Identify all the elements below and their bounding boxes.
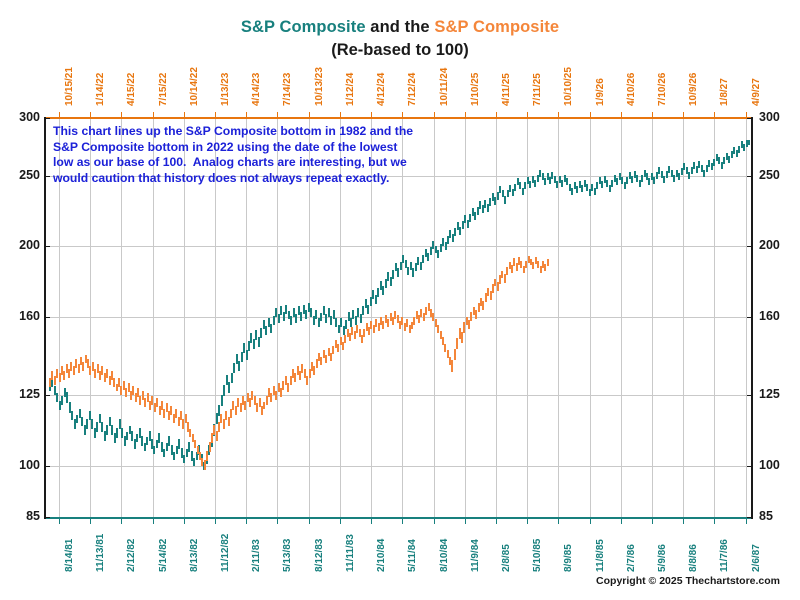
price-bar [290, 316, 292, 325]
price-bar [501, 271, 503, 278]
price-bar [432, 241, 434, 249]
price-bar [237, 398, 239, 407]
x-tick-top [246, 112, 247, 117]
x-tick-top [558, 112, 559, 117]
price-bar [132, 386, 134, 395]
price-bar [406, 319, 408, 327]
price-bar [556, 181, 558, 188]
price-bar [454, 349, 456, 360]
price-bar [360, 314, 362, 323]
price-bar [221, 395, 223, 406]
x-tick-top [590, 112, 591, 117]
price-bar [611, 180, 613, 187]
x-tick-bottom [90, 519, 91, 524]
price-bar [400, 262, 402, 270]
x-tick-bottom [558, 519, 559, 524]
x-tick-bottom [402, 519, 403, 524]
x-axis-label-top: 4/9/27 [751, 78, 762, 106]
price-bar [459, 227, 461, 235]
x-tick-bottom [434, 519, 435, 524]
price-bar [494, 197, 496, 205]
price-bar [265, 326, 267, 335]
annotation-line-3: low as our base of 100. Analog charts ar… [53, 155, 473, 171]
price-bar [489, 198, 491, 206]
price-bar [170, 406, 172, 415]
price-bar [342, 342, 344, 350]
price-bar [401, 317, 403, 325]
x-axis-label-bottom: 2/12/82 [126, 539, 137, 572]
x-axis-label-top: 7/15/22 [158, 73, 169, 106]
x-axis-label-bottom: 8/9/85 [563, 544, 574, 572]
x-tick-top [59, 112, 60, 117]
price-bar [231, 373, 233, 383]
x-tick-top [496, 112, 497, 117]
price-bar [474, 212, 476, 220]
x-tick-top [371, 112, 372, 117]
x-tick-top [340, 112, 341, 117]
price-bar [125, 388, 127, 397]
x-axis-label-bottom: 11/8/85 [595, 539, 606, 572]
x-tick-top [652, 112, 653, 117]
price-bar [120, 386, 122, 395]
price-bar [352, 310, 354, 319]
price-bar [71, 411, 73, 420]
x-axis-label-top: 4/10/26 [626, 73, 637, 106]
price-bar [728, 156, 730, 163]
x-tick-top [434, 112, 435, 117]
price-bar [636, 175, 638, 182]
price-bar [648, 178, 650, 185]
x-tick-bottom [746, 519, 747, 524]
y-tick-left [45, 118, 50, 119]
price-bar [101, 366, 103, 375]
price-bar [738, 146, 740, 153]
price-bar [243, 343, 245, 353]
x-axis-label-top: 4/11/25 [501, 73, 512, 106]
y-tick-left [45, 176, 50, 177]
y-axis-label-right: 300 [759, 110, 799, 124]
price-bar [718, 157, 720, 164]
title-line-1: S&P Composite and the S&P Composite [0, 18, 800, 37]
x-tick-bottom [621, 519, 622, 524]
x-axis-label-top: 4/15/22 [126, 73, 137, 106]
plot-border-right [751, 117, 753, 519]
price-bar [141, 436, 143, 446]
x-axis-label-top: 7/11/25 [532, 73, 543, 106]
price-bar [301, 364, 303, 373]
price-bar [320, 313, 322, 321]
price-bar [275, 391, 277, 400]
x-tick-top [714, 112, 715, 117]
price-bar [173, 452, 175, 460]
price-bar [330, 353, 332, 361]
price-bar [370, 321, 372, 329]
price-bar [534, 180, 536, 187]
x-axis-label-top: 4/12/24 [376, 73, 387, 106]
x-axis-label-bottom: 2/7/86 [626, 544, 637, 572]
price-bar [394, 311, 396, 319]
y-tick-right [747, 395, 752, 396]
price-bar [81, 417, 83, 426]
gridline-vertical [590, 118, 591, 517]
price-bar [266, 396, 268, 405]
price-bar [244, 401, 246, 410]
x-tick-top [277, 112, 278, 117]
price-bar [320, 357, 322, 365]
price-bar [310, 308, 312, 317]
title-series-teal: S&P Composite [241, 18, 366, 36]
price-bar [357, 308, 359, 317]
price-bar [89, 366, 91, 375]
price-bar [417, 257, 419, 265]
copyright-notice: Copyright © 2025 Thechartstore.com [596, 575, 780, 587]
price-bar [663, 176, 665, 183]
x-axis-label-bottom: 2/11/83 [251, 539, 262, 572]
price-bar [420, 309, 422, 317]
price-bar [539, 170, 541, 177]
x-axis-label-bottom: 8/8/86 [688, 544, 699, 572]
price-bar [106, 369, 108, 378]
x-axis-label-top: 10/15/21 [64, 67, 75, 106]
price-bar [586, 184, 588, 191]
price-bar [306, 376, 308, 385]
title-conjunction: and the [366, 18, 435, 36]
price-bar [188, 442, 190, 452]
price-bar [313, 366, 315, 375]
y-axis-label-left: 85 [2, 509, 40, 523]
gridline-vertical [714, 118, 715, 517]
price-bar [372, 290, 374, 299]
price-bar [256, 403, 258, 412]
x-tick-top [215, 112, 216, 117]
price-bar [213, 425, 215, 435]
y-axis-label-left: 160 [2, 309, 40, 323]
price-bar [375, 319, 377, 327]
price-bar [499, 186, 501, 193]
price-bar [106, 425, 108, 435]
price-bar [581, 185, 583, 192]
x-tick-top [465, 112, 466, 117]
price-bar [402, 255, 404, 263]
x-axis-label-top: 1/9/26 [595, 78, 606, 106]
price-bar [258, 337, 260, 347]
y-axis-label-left: 125 [2, 387, 40, 401]
x-axis-label-top: 7/10/26 [657, 73, 668, 106]
price-bar [544, 264, 546, 271]
price-bar [668, 166, 670, 173]
price-bar [616, 178, 618, 185]
price-bar [136, 434, 138, 442]
price-bar [425, 307, 427, 315]
x-axis-label-top: 10/13/23 [314, 67, 325, 106]
price-bar [163, 409, 165, 418]
price-bar [111, 425, 113, 435]
price-bar [743, 144, 745, 151]
price-bar [78, 364, 80, 373]
price-bar [344, 335, 346, 343]
x-tick-bottom [590, 519, 591, 524]
price-bar [748, 140, 750, 145]
price-bar [713, 159, 715, 166]
x-axis-label-bottom: 5/9/86 [657, 544, 668, 572]
price-bar [189, 429, 191, 437]
x-tick-top [184, 112, 185, 117]
price-bar [362, 306, 364, 315]
price-bar [66, 392, 68, 403]
price-bar [287, 383, 289, 392]
price-bar [464, 215, 466, 223]
x-tick-bottom [340, 519, 341, 524]
x-axis-label-top: 1/13/23 [220, 73, 231, 106]
price-bar [235, 406, 237, 415]
y-axis-label-right: 200 [759, 238, 799, 252]
price-bar [591, 184, 593, 191]
y-tick-right [747, 118, 752, 119]
price-bar [678, 173, 680, 180]
price-bar [456, 338, 458, 349]
plot-border-left [44, 117, 46, 519]
price-bar [175, 409, 177, 418]
price-bar [76, 415, 78, 423]
x-axis-label-top: 7/14/23 [282, 73, 293, 106]
y-axis-label-right: 100 [759, 458, 799, 472]
x-tick-bottom [215, 519, 216, 524]
price-bar [144, 398, 146, 407]
price-bar [469, 214, 471, 222]
y-tick-left [45, 246, 50, 247]
x-tick-bottom [465, 519, 466, 524]
price-bar [451, 360, 453, 372]
x-tick-bottom [121, 519, 122, 524]
x-axis-label-bottom: 5/11/84 [407, 539, 418, 572]
price-bar [432, 313, 434, 321]
price-bar [397, 268, 399, 277]
y-tick-left [45, 395, 50, 396]
x-tick-bottom [309, 519, 310, 524]
price-bar [337, 344, 339, 352]
price-bar [241, 352, 243, 362]
x-tick-bottom [153, 519, 154, 524]
price-bar [146, 437, 148, 445]
y-tick-left [45, 517, 50, 518]
price-bar [601, 181, 603, 188]
price-bar [497, 192, 499, 200]
price-bar [56, 369, 58, 378]
price-bar [733, 147, 735, 154]
price-bar [233, 363, 235, 373]
price-bar [698, 161, 700, 168]
price-bar [96, 422, 98, 432]
x-axis-label-top: 1/12/24 [345, 73, 356, 106]
x-tick-top [621, 112, 622, 117]
price-bar [156, 398, 158, 407]
price-bar [506, 267, 508, 275]
price-bar [223, 419, 225, 429]
price-bar [537, 261, 539, 268]
price-bar [345, 320, 347, 329]
x-axis-label-bottom: 8/13/82 [189, 539, 200, 572]
y-tick-right [747, 246, 752, 247]
x-axis-label-top: 4/14/23 [251, 73, 262, 106]
price-bar [251, 391, 253, 400]
x-tick-top [402, 112, 403, 117]
x-tick-bottom [277, 519, 278, 524]
price-bar [278, 314, 280, 323]
price-bar [228, 417, 230, 426]
price-bar [673, 175, 675, 182]
plot-border-top [45, 117, 753, 119]
price-bar [519, 182, 521, 189]
y-axis-label-right: 250 [759, 168, 799, 182]
x-tick-bottom [683, 519, 684, 524]
price-bar [525, 261, 527, 268]
x-axis-label-bottom: 11/12/82 [220, 534, 231, 572]
price-bar [511, 265, 513, 273]
x-tick-top [153, 112, 154, 117]
price-bar [151, 396, 153, 405]
price-bar [285, 305, 287, 314]
price-bar [504, 274, 506, 283]
price-bar [576, 186, 578, 193]
price-bar [529, 181, 531, 188]
y-tick-right [747, 466, 752, 467]
price-bar [413, 317, 415, 325]
price-bar [571, 188, 573, 195]
price-bar [206, 451, 208, 461]
gridline-horizontal [45, 466, 752, 467]
price-bar [116, 428, 118, 438]
price-bar [91, 419, 93, 429]
price-bar [113, 378, 115, 387]
price-bar [524, 182, 526, 189]
price-bar [412, 268, 414, 277]
price-bar [509, 185, 511, 192]
price-bar [683, 163, 685, 170]
price-bar [86, 419, 88, 429]
y-tick-right [747, 517, 752, 518]
price-bar [626, 177, 628, 184]
x-axis-label-bottom: 2/10/84 [376, 539, 387, 572]
x-axis-label-top: 1/8/27 [719, 78, 730, 106]
price-bar [382, 321, 384, 329]
price-bar [101, 422, 103, 432]
price-bar [61, 396, 63, 405]
price-bar [723, 157, 725, 164]
price-bar [475, 310, 477, 319]
price-bar [204, 460, 206, 470]
price-bar [532, 262, 534, 269]
x-axis-label-bottom: 2/6/87 [751, 544, 762, 572]
title-subtitle: (Re-based to 100) [0, 41, 800, 60]
price-bar [194, 440, 196, 448]
price-bar [631, 176, 633, 183]
x-tick-top [90, 112, 91, 117]
price-bar [270, 393, 272, 402]
x-axis-label-top: 10/10/25 [563, 67, 574, 106]
price-bar [168, 436, 170, 446]
price-bar [544, 178, 546, 185]
price-bar [270, 324, 272, 333]
price-bar [94, 369, 96, 378]
price-bar [332, 346, 334, 354]
x-axis-label-top: 1/10/25 [470, 73, 481, 106]
x-axis-label-bottom: 5/13/83 [282, 539, 293, 572]
price-bar [201, 458, 203, 466]
x-tick-bottom [184, 519, 185, 524]
price-bar [282, 381, 284, 390]
x-axis-label-bottom: 11/11/83 [345, 534, 356, 572]
x-axis-label-bottom: 2/8/85 [501, 544, 512, 572]
price-bar [547, 259, 549, 266]
price-bar [522, 188, 524, 195]
price-bar [228, 382, 230, 393]
gridline-horizontal [45, 246, 752, 247]
price-bar [70, 362, 72, 371]
price-bar [688, 172, 690, 179]
price-bar [444, 344, 446, 352]
price-bar [470, 312, 472, 321]
price-bar [520, 261, 522, 268]
x-axis-label-top: 10/11/24 [439, 68, 450, 106]
price-bar [351, 327, 353, 335]
price-bar [75, 359, 77, 368]
chart-title: S&P Composite and the S&P Composite (Re-… [0, 18, 800, 60]
price-bar [275, 308, 277, 317]
annotation-line-1: This chart lines up the S&P Composite bo… [53, 124, 473, 140]
price-bar [315, 310, 317, 319]
x-tick-bottom [371, 519, 372, 524]
price-bar [442, 238, 444, 246]
price-bar [437, 250, 439, 258]
price-bar [163, 449, 165, 457]
x-tick-bottom [527, 519, 528, 524]
price-bar [230, 409, 232, 418]
price-bar [658, 167, 660, 174]
price-bar [295, 314, 297, 323]
price-bar [427, 253, 429, 261]
price-bar [363, 329, 365, 337]
price-bar [693, 162, 695, 169]
price-bar [232, 401, 234, 410]
annotation-line-2: S&P Composite bottom in 2022 using the d… [53, 140, 473, 156]
price-bar [82, 362, 84, 371]
price-bar [183, 455, 185, 463]
x-axis-label-top: 10/14/22 [189, 67, 200, 106]
price-bar [566, 178, 568, 185]
chart-annotation: This chart lines up the S&P Composite bo… [53, 124, 473, 186]
price-bar [561, 180, 563, 187]
gridline-vertical [496, 118, 497, 517]
price-bar [131, 431, 133, 441]
y-axis-label-left: 250 [2, 168, 40, 182]
price-bar [220, 414, 222, 423]
x-axis-label-bottom: 8/10/84 [439, 539, 450, 572]
price-bar [178, 439, 180, 449]
price-bar [126, 432, 128, 440]
price-bar [708, 160, 710, 167]
price-bar [209, 442, 211, 452]
price-bar [238, 361, 240, 371]
price-bar [294, 373, 296, 382]
price-bar [596, 182, 598, 189]
x-tick-top [121, 112, 122, 117]
price-bar [407, 267, 409, 275]
price-bar [382, 286, 384, 295]
x-tick-bottom [714, 519, 715, 524]
price-bar [463, 322, 465, 333]
price-bar [250, 333, 252, 343]
price-bar [330, 316, 332, 325]
